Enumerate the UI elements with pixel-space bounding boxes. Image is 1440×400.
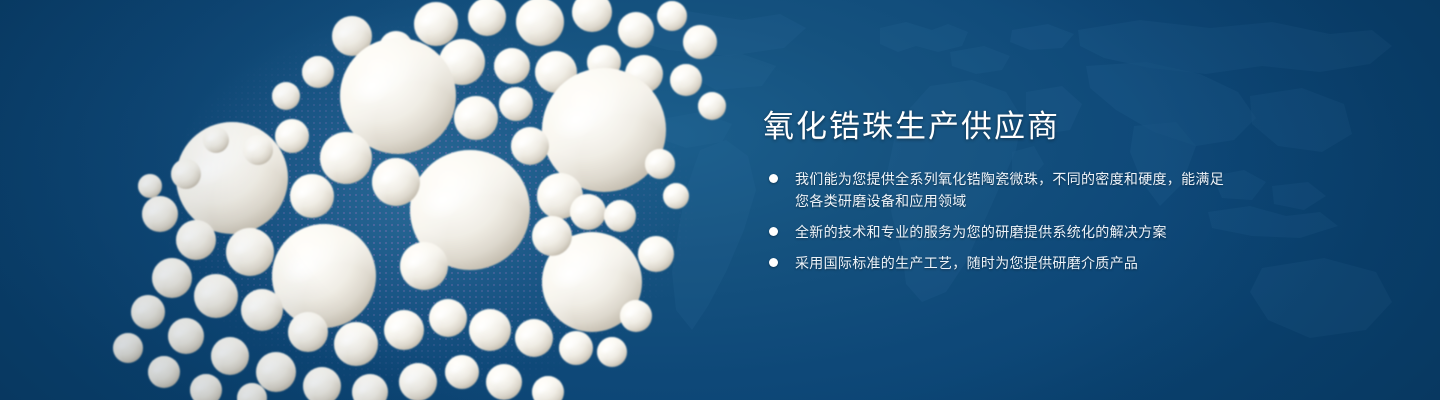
bullet-text: 我们能为您提供全系列氧化锆陶瓷微珠，不同的密度和硬度，能满足您各类研磨设备和应用… bbox=[795, 168, 1237, 212]
bullet-dot-icon bbox=[769, 227, 778, 236]
bullet-text: 全新的技术和专业的服务为您的研磨提供系统化的解决方案 bbox=[795, 221, 1237, 243]
photo-backing-plate bbox=[120, 0, 760, 400]
bullet-text: 采用国际标准的生产工艺，随时为您提供研磨介质产品 bbox=[795, 252, 1237, 274]
banner-content: 氧化锆珠生产供应商 我们能为您提供全系列氧化锆陶瓷微珠，不同的密度和硬度，能满足… bbox=[763, 0, 1323, 400]
hero-banner: 氧化锆珠生产供应商 我们能为您提供全系列氧化锆陶瓷微珠，不同的密度和硬度，能满足… bbox=[0, 0, 1440, 400]
bullet-dot-icon bbox=[769, 258, 778, 267]
list-item: 我们能为您提供全系列氧化锆陶瓷微珠，不同的密度和硬度，能满足您各类研磨设备和应用… bbox=[767, 168, 1237, 212]
banner-title: 氧化锆珠生产供应商 bbox=[763, 108, 1060, 146]
list-item: 采用国际标准的生产工艺，随时为您提供研磨介质产品 bbox=[767, 252, 1237, 274]
list-item: 全新的技术和专业的服务为您的研磨提供系统化的解决方案 bbox=[767, 221, 1237, 243]
banner-feature-list: 我们能为您提供全系列氧化锆陶瓷微珠，不同的密度和硬度，能满足您各类研磨设备和应用… bbox=[767, 168, 1237, 274]
zirconia-beads-photo bbox=[0, 0, 780, 400]
bullet-dot-icon bbox=[769, 174, 778, 183]
halftone-dot-pattern bbox=[95, 0, 735, 400]
